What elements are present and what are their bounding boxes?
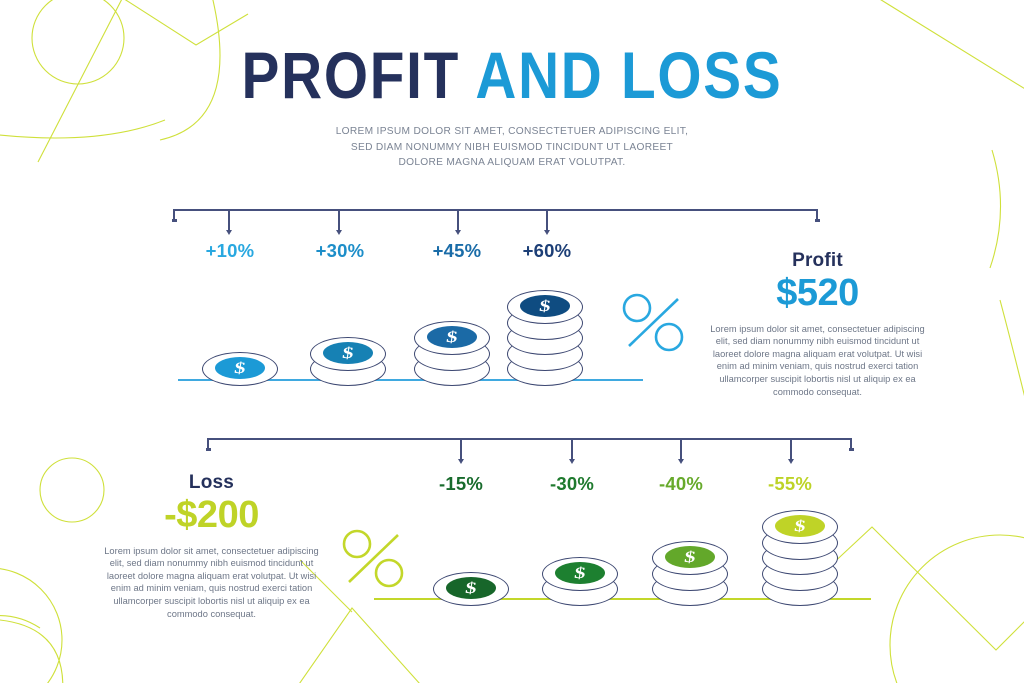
loss-body-text: Lorem ipsum dolor sit amet, consectetuer… xyxy=(104,545,319,621)
dollar-sign-icon: $ xyxy=(519,298,571,314)
coin: $ xyxy=(762,510,838,544)
page-title: PROFIT AND LOSS xyxy=(72,42,953,108)
dollar-sign-icon: $ xyxy=(426,329,478,345)
coin-face: $ xyxy=(323,342,373,364)
title-and-loss: AND LOSS xyxy=(475,38,782,112)
bracket-tick-2 xyxy=(338,209,340,231)
loss-percent-symbol xyxy=(340,528,406,590)
loss-percent-1: -15% xyxy=(439,473,483,495)
loss-panel: Loss -$200 Lorem ipsum dolor sit amet, c… xyxy=(104,472,319,620)
loss-percent-3: -40% xyxy=(659,473,703,495)
subtitle: LOREM IPSUM DOLOR SIT AMET, CONSECTETUER… xyxy=(332,124,692,171)
dollar-sign-icon: $ xyxy=(214,360,266,376)
infographic-canvas: PROFIT AND LOSS LOREM IPSUM DOLOR SIT AM… xyxy=(0,0,1024,683)
dollar-sign-icon: $ xyxy=(664,549,716,565)
bracket-tick-left xyxy=(173,209,175,220)
loss-coin-stack-4: $ xyxy=(762,510,838,606)
dollar-sign-icon: $ xyxy=(774,518,826,534)
dollar-sign-icon: $ xyxy=(445,580,497,596)
bracket-tick-2 xyxy=(571,438,573,460)
bracket-tick-4 xyxy=(546,209,548,231)
coin: $ xyxy=(310,337,386,371)
bracket-tick-right xyxy=(850,438,852,449)
bracket-tick-1 xyxy=(228,209,230,231)
coin: $ xyxy=(202,352,278,386)
loss-percent-2: -30% xyxy=(550,473,594,495)
profit-label: Profit xyxy=(710,250,925,272)
bracket-tick-3 xyxy=(680,438,682,460)
title-profit: PROFIT xyxy=(242,38,460,112)
bracket-bar xyxy=(173,209,818,211)
coin: $ xyxy=(433,572,509,606)
coin-face: $ xyxy=(427,326,477,348)
header: PROFIT AND LOSS LOREM IPSUM DOLOR SIT AM… xyxy=(0,42,1024,171)
loss-label: Loss xyxy=(104,472,319,494)
loss-coin-stack-1: $ xyxy=(433,572,509,606)
coin-face: $ xyxy=(775,515,825,537)
profit-percent-1: +10% xyxy=(206,240,255,262)
profit-coin-stack-3: $ xyxy=(414,321,490,386)
profit-panel: Profit $520 Lorem ipsum dolor sit amet, … xyxy=(710,250,925,398)
loss-percent-4: -55% xyxy=(768,473,812,495)
profit-percent-4: +60% xyxy=(523,240,572,262)
coin: $ xyxy=(414,321,490,355)
loss-coin-stack-3: $ xyxy=(652,541,728,606)
profit-amount: $520 xyxy=(710,272,925,315)
bracket-tick-right xyxy=(816,209,818,220)
coin-face: $ xyxy=(446,577,496,599)
bracket-tick-4 xyxy=(790,438,792,460)
loss-coin-stack-2: $ xyxy=(542,557,618,607)
profit-coin-stack-2: $ xyxy=(310,337,386,387)
bracket-tick-left xyxy=(207,438,209,449)
coin-face: $ xyxy=(665,546,715,568)
coin: $ xyxy=(542,557,618,591)
profit-coin-stack-1: $ xyxy=(202,352,278,386)
coin-face: $ xyxy=(215,357,265,379)
bracket-tick-3 xyxy=(457,209,459,231)
profit-coin-stack-4: $ xyxy=(507,290,583,386)
bracket-bar xyxy=(207,438,852,440)
dollar-sign-icon: $ xyxy=(322,345,374,361)
loss-amount: -$200 xyxy=(104,494,319,537)
coin: $ xyxy=(652,541,728,575)
profit-percent-2: +30% xyxy=(316,240,365,262)
coin-face: $ xyxy=(520,295,570,317)
bracket-tick-1 xyxy=(460,438,462,460)
dollar-sign-icon: $ xyxy=(554,565,606,581)
profit-percent-symbol xyxy=(620,292,686,354)
profit-percent-3: +45% xyxy=(433,240,482,262)
profit-body-text: Lorem ipsum dolor sit amet, consectetuer… xyxy=(710,323,925,399)
coin: $ xyxy=(507,290,583,324)
coin-face: $ xyxy=(555,562,605,584)
